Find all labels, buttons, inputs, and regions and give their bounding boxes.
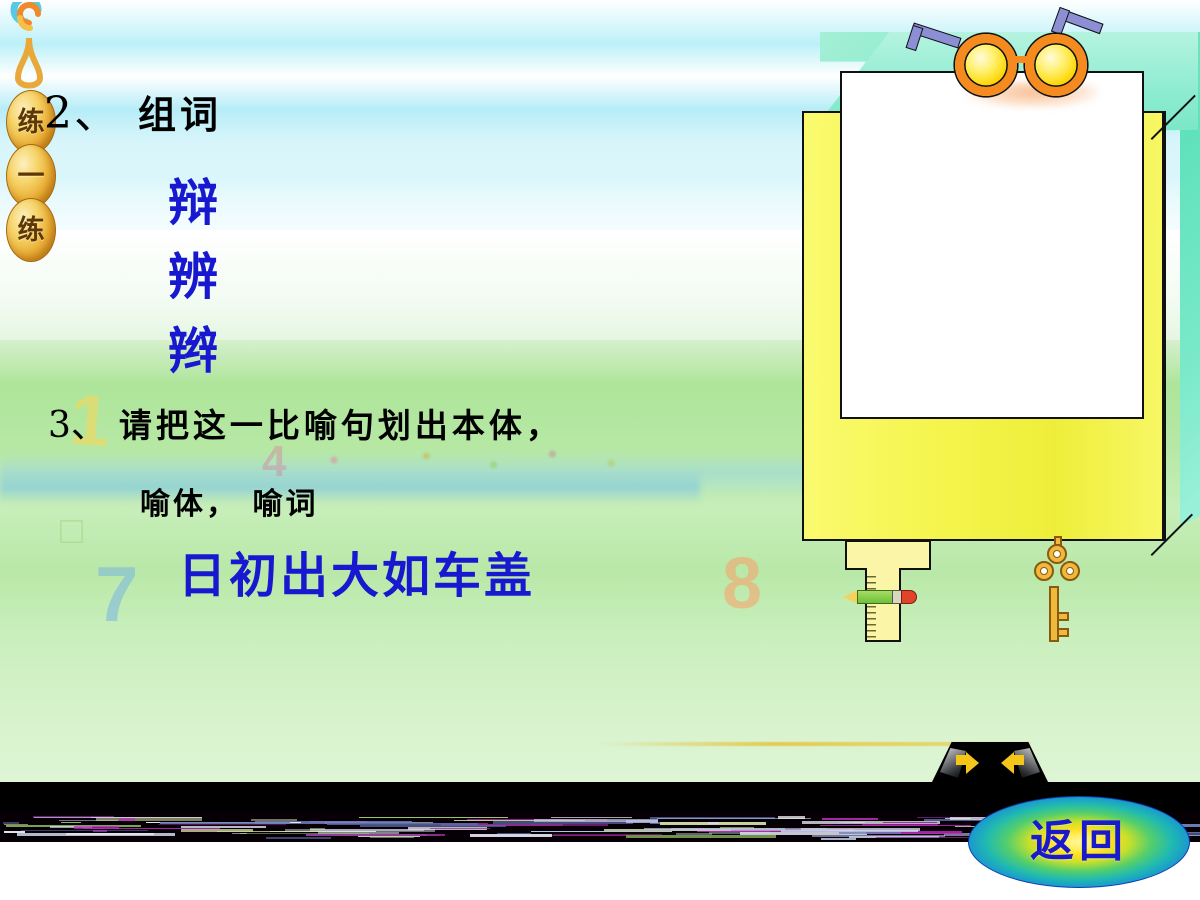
decorative-streak [66,833,154,835]
key-tooth-lower [1057,628,1069,637]
box-right-edge [1164,111,1200,541]
exercise-2-title: 组词 [138,93,222,137]
decorative-streak [430,828,489,829]
exercise-3-quote: 日初出大如车盖 [178,552,535,600]
bead-label-3: 练 [18,217,45,244]
key-lobe-right [1060,561,1080,581]
pencil-eraser [901,590,917,604]
return-button[interactable]: 返回 [968,796,1190,888]
decorative-streak [497,833,531,834]
pencil-icon [843,588,919,606]
decorative-streak [821,838,856,840]
decorative-streak [34,817,126,818]
decorative-streak [119,818,135,821]
key-lobe-left [1034,561,1054,581]
decorative-streak [475,835,530,836]
key-lobe-hole-top [1053,550,1061,558]
decorative-streak [551,817,632,818]
answer-character-1: 辩 [168,178,220,228]
answer-character-2: 辨 [168,252,220,302]
decorative-streak [359,817,508,818]
decorative-streak [306,834,445,836]
ghost-square-symbol: □ [60,510,83,553]
key-icon [1030,538,1084,646]
decorative-streak [820,825,972,826]
ghost-digit-8: 8 [722,548,762,620]
glasses-lens-left [955,34,1017,96]
exercise-2-heading: 2、组词 [44,92,222,136]
key-lobe-hole-left [1040,567,1048,575]
decorative-streak [531,831,672,832]
t-square-head [845,540,931,570]
key-lobe-hole-right [1066,567,1074,575]
decorative-streak [327,823,478,825]
box-white-panel [840,71,1144,419]
decorative-streak [310,829,425,831]
pencil-tip [843,590,858,604]
bead-label-2: 一 [18,163,45,190]
return-button-label: 返回 [1030,820,1128,864]
decorative-streak [883,822,937,823]
decorative-streak [626,835,776,838]
decorative-streak [21,830,148,831]
exercise-3-number: 3、 [48,405,107,446]
decorative-streak [822,818,878,820]
slide-canvas: 1 4 7 8 □ 练 一 练 2、组词 辩 辨 辫 3、请把这一比喻句划出本体… [0,0,1200,900]
bead-label-1: 练 [18,109,45,136]
decorative-streak [838,822,853,823]
ghost-digit-7: 7 [95,555,138,633]
glasses-icon [955,8,1115,94]
navigation-plinth[interactable] [930,742,1050,786]
decorative-streak [4,824,28,825]
decorative-streak [708,822,719,824]
decorative-streak [266,837,331,839]
decorative-streak [945,818,971,819]
decorative-streak [217,831,318,832]
key-bow [1034,544,1080,590]
exercise-2-number: 2、 [44,88,120,139]
answer-character-3: 辫 [168,326,220,376]
confetti-speckles [250,440,670,480]
decorative-streak [181,826,266,828]
exercise-3-title-line2: 喻体， 喻词 [140,490,318,520]
arrow-left-shaft[interactable] [1012,755,1024,765]
pencil-barrel [857,590,893,604]
key-lobe-top [1047,544,1067,564]
glasses-bridge [1013,56,1031,66]
t-square-tick-marks [867,576,876,638]
decorative-streak [778,816,805,819]
decorative-streak [644,828,786,830]
decorative-streak [61,822,81,823]
exercise-3-heading: 3、请把这一比喻句划出本体， [48,408,563,444]
exercise-3-title-line1: 请把这一比喻句划出本体， [119,406,563,445]
glasses-lens-right [1025,34,1087,96]
ornament-bead-3: 练 [6,198,56,262]
decorative-streak [74,826,119,829]
key-tooth-upper [1057,612,1069,621]
decorative-streak [160,822,290,824]
arrow-right-icon[interactable] [966,752,979,774]
decorative-streak [251,819,297,821]
decorative-streak [232,833,247,834]
decorative-streak [812,835,945,837]
ghost-digit-4: 4 [262,440,286,484]
decorative-streak [360,825,507,827]
decorative-streak [553,834,662,835]
decorative-streak [626,820,658,823]
